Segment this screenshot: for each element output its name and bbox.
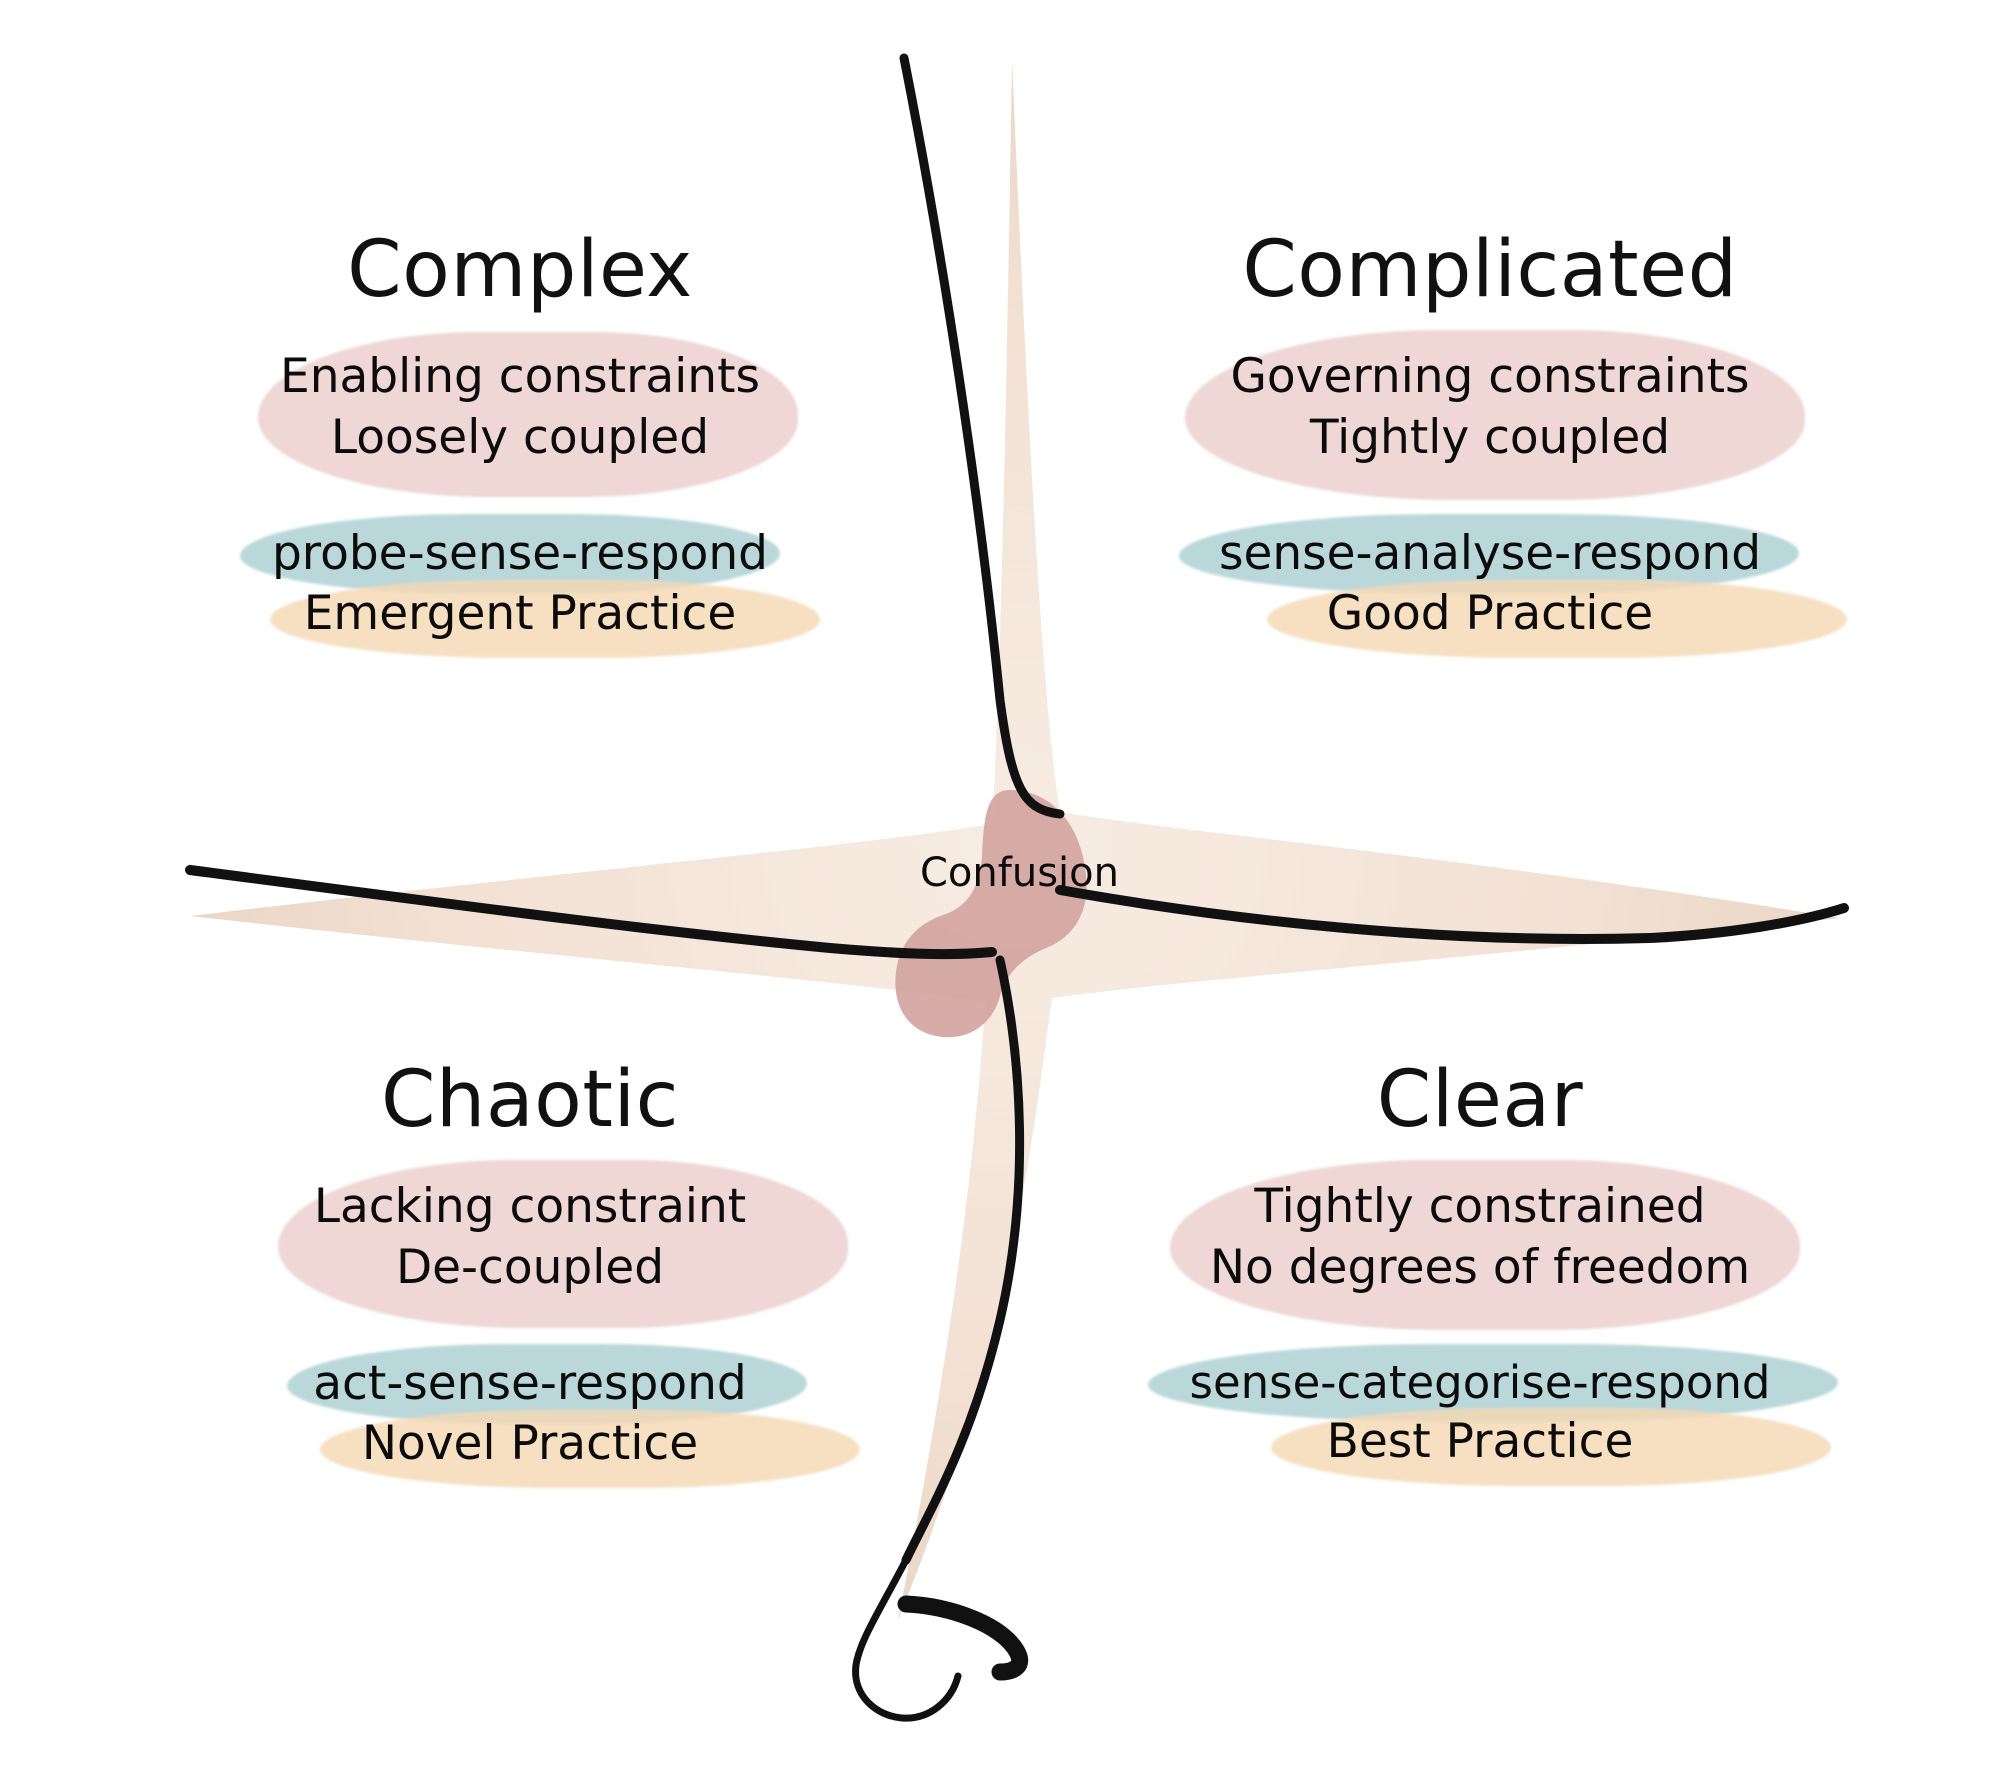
chaotic-practice-group: Novel Practice [362,1414,698,1474]
divider-top-vertical [904,58,1060,814]
chaotic-practice: Novel Practice [362,1414,698,1474]
cynefin-diagram: Confusion Complex Enabling constraints L… [0,0,2000,1778]
divider-right-horizontal [1060,890,1844,939]
quadrant-complex: Complex Enabling constraints Loosely cou… [150,230,890,644]
complicated-constraint-line-1: Governing constraints [1231,346,1750,407]
quadrant-title-clear: Clear [1377,1060,1584,1142]
clear-approach: sense-categorise-respond [1190,1354,1771,1412]
complicated-practice: Good Practice [1327,584,1653,644]
divider-bottom-hook [856,1560,958,1718]
complex-practice-group: Emergent Practice [304,584,737,644]
chaotic-constraint-line-2: De-coupled [396,1237,664,1298]
quadrant-clear: Clear Tightly constrained No degrees of … [1090,1060,1870,1472]
quadrant-title-complicated: Complicated [1242,230,1737,312]
clear-constraint-line-1: Tightly constrained [1254,1176,1705,1237]
complicated-constraint-line-2: Tightly coupled [1310,407,1670,468]
complex-constraint-line-1: Enabling constraints [280,346,760,407]
quadrant-complicated: Complicated Governing constraints Tightl… [1110,230,1870,644]
chaotic-approach: act-sense-respond [313,1354,747,1414]
chaotic-approach-group: act-sense-respond [313,1354,747,1414]
confusion-inner-blob [895,790,1086,1037]
quadrant-title-chaotic: Chaotic [381,1060,679,1142]
divider-left-horizontal [190,870,992,954]
complex-approach-group: probe-sense-respond [272,524,768,584]
clear-practice: Best Practice [1327,1412,1634,1472]
clear-approach-group: sense-categorise-respond [1190,1354,1771,1412]
clear-practice-group: Best Practice [1327,1412,1634,1472]
clear-constraints-group: Tightly constrained No degrees of freedo… [1210,1176,1750,1298]
divider-bottom-hook-tail [906,1604,1020,1672]
complicated-approach: sense-analyse-respond [1219,524,1761,584]
complicated-constraints-group: Governing constraints Tightly coupled [1231,346,1750,468]
chaotic-constraints-group: Lacking constraint De-coupled [314,1176,746,1298]
complicated-practice-group: Good Practice [1327,584,1653,644]
confusion-label: Confusion [920,850,1119,896]
complicated-approach-group: sense-analyse-respond [1219,524,1761,584]
complex-practice: Emergent Practice [304,584,737,644]
divider-bottom-vertical [906,960,1020,1560]
complex-approach: probe-sense-respond [272,524,768,584]
complex-constraints-group: Enabling constraints Loosely coupled [280,346,760,468]
chaotic-constraint-line-1: Lacking constraint [314,1176,746,1237]
clear-constraint-line-2: No degrees of freedom [1210,1237,1750,1298]
quadrant-chaotic: Chaotic Lacking constraint De-coupled ac… [160,1060,900,1474]
complex-constraint-line-2: Loosely coupled [331,407,709,468]
quadrant-title-complex: Complex [347,230,693,312]
